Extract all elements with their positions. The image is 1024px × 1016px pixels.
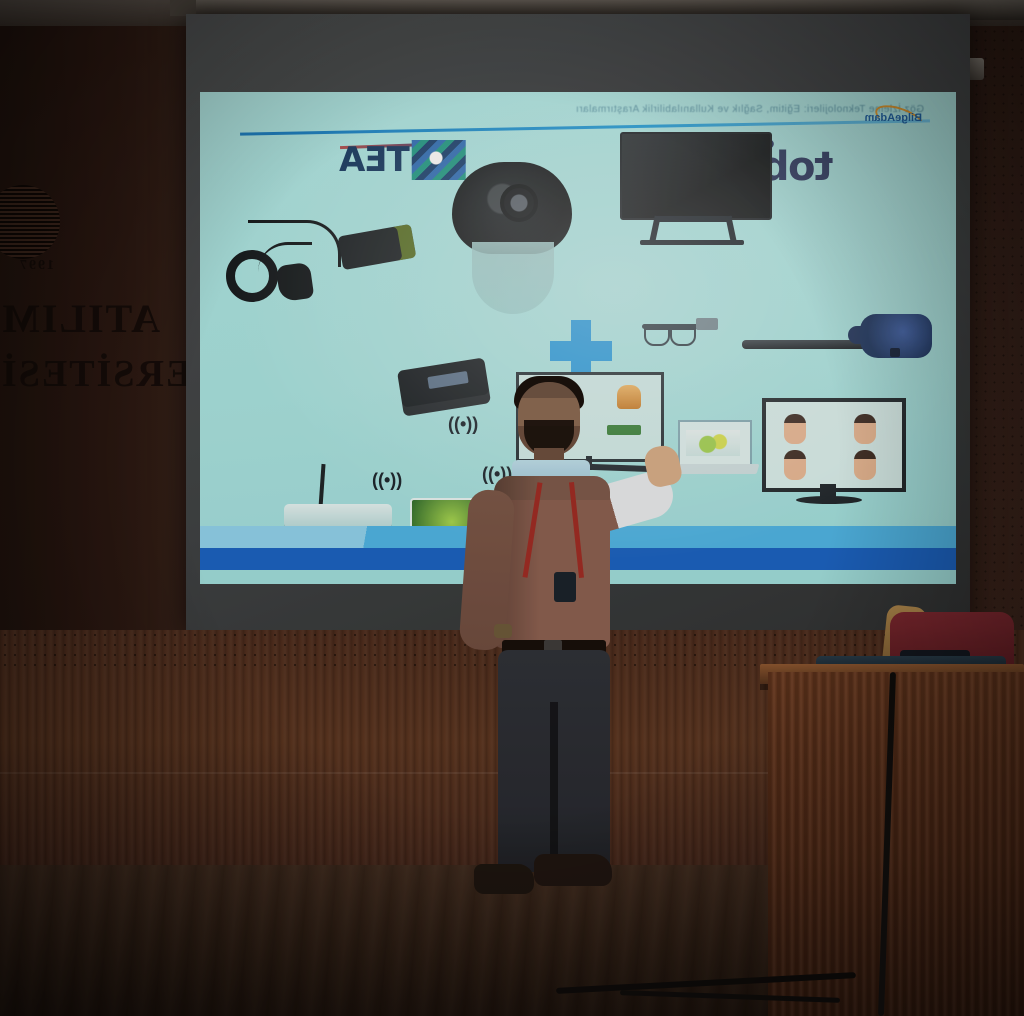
tea-logo-text: TEA (340, 140, 410, 180)
recording-box-icon (338, 224, 417, 270)
glasses-lens-right (670, 328, 696, 346)
large-display-foot (640, 240, 744, 245)
slide-header-text: Göz İzleme Teknolojileri: Eğitim, Sağlık… (244, 104, 924, 122)
wall-text-atilim: ATILIM (0, 295, 160, 342)
tea-logo: TEA (340, 140, 466, 180)
large-display-stand (656, 216, 732, 222)
glasses-recorder-icon (696, 318, 718, 330)
vr-headset-lens (890, 348, 900, 357)
earpiece-pod-icon (276, 262, 315, 302)
router-antenna (318, 464, 325, 508)
large-display-icon (620, 132, 772, 220)
presenter-shoe-right (534, 854, 612, 886)
presenter-shoe-left (474, 864, 534, 894)
sponsor-logo-text: BilgeAdam (865, 112, 922, 124)
face-monitor-icon (762, 398, 906, 492)
wristwatch (494, 624, 512, 638)
mannequin-head (472, 242, 554, 314)
presenter-leg-gap (550, 702, 558, 870)
bar-eye-tracker-icon (742, 340, 868, 349)
face-thumbnail (854, 450, 876, 480)
tea-flag-icon (412, 140, 466, 180)
face-monitor-base (796, 496, 862, 504)
presenter (446, 372, 676, 932)
face-thumbnail (784, 414, 806, 444)
wall-text-year: 1997 (18, 258, 54, 274)
sponsor-logo: BilgeAdam (872, 106, 928, 132)
wireless-router-icon (284, 504, 392, 528)
wooden-lectern (768, 672, 1024, 1016)
wifi-signal-icon-2: ((•)) (372, 470, 402, 491)
face-thumbnail (784, 450, 806, 480)
glasses-lens-left (644, 328, 670, 346)
badge-transmitter (554, 572, 576, 602)
heatmap-visual (686, 430, 740, 456)
eye-tracker-lens-icon (500, 184, 538, 222)
photo-scene: 1997 ATILIM ÜNİVERSİTESİ Göz İzleme Tekn… (0, 0, 1024, 1016)
face-thumbnail (854, 414, 876, 444)
